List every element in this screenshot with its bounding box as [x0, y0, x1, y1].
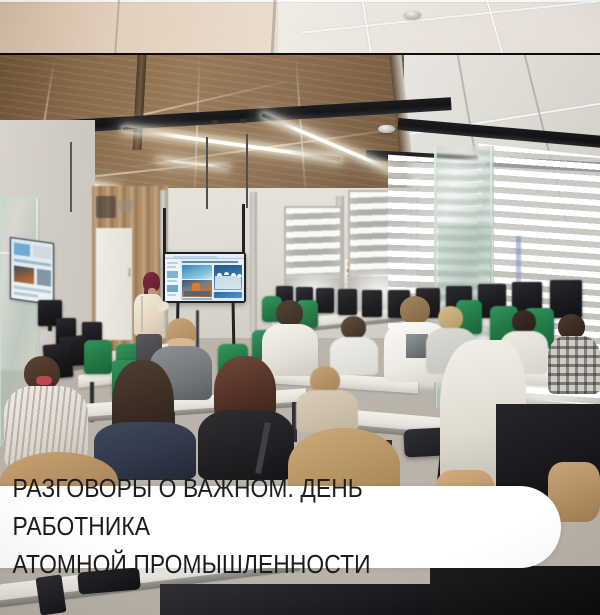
- student-head: [276, 300, 303, 326]
- ceiling-wood-top-band: [0, 0, 278, 56]
- student-torso: [296, 390, 358, 432]
- slide-photo-tile: [182, 280, 212, 297]
- monitor: [550, 280, 582, 318]
- student-torso-foreground: [160, 584, 430, 615]
- student: [548, 314, 600, 394]
- tv-stand: [242, 204, 245, 254]
- slide-photo-tile: [214, 292, 242, 298]
- hair-tie: [36, 376, 52, 385]
- smoke-detector-icon: [404, 11, 421, 19]
- student: [94, 360, 196, 480]
- monitor: [338, 289, 357, 315]
- monitor: [362, 290, 382, 317]
- hanging-cable: [206, 137, 208, 209]
- wall-vent: [118, 198, 134, 212]
- student-head: [438, 306, 463, 330]
- slide-photo-tile: [214, 265, 242, 290]
- glass-frame: [0, 196, 40, 199]
- student: [4, 356, 88, 468]
- tv-stand: [163, 208, 166, 254]
- tv-screen: [165, 254, 244, 301]
- beam-fixture: [240, 119, 246, 123]
- student-head: [341, 316, 366, 339]
- ceiling-grout: [0, 0, 600, 2]
- shirt-graphic: [406, 334, 428, 358]
- student-torso: [548, 336, 600, 394]
- smoke-detector-icon: [378, 125, 395, 133]
- hanging-cable: [70, 142, 72, 212]
- caption-banner: РАЗГОВОРЫ О ВАЖНОМ. ДЕНЬ РАБОТНИКА АТОМН…: [0, 486, 561, 568]
- tv-display: [163, 252, 246, 303]
- caption-text: РАЗГОВОРЫ О ВАЖНОМ. ДЕНЬ РАБОТНИКА АТОМН…: [0, 470, 502, 584]
- wall-pillar: [250, 192, 257, 332]
- student: [198, 356, 294, 480]
- monitor-stand: [48, 324, 52, 331]
- photo-canvas: РАЗГОВОРЫ О ВАЖНОМ. ДЕНЬ РАБОТНИКА АТОМН…: [0, 0, 600, 615]
- wall-display-left: [10, 237, 54, 305]
- slide-photo-tile: [182, 265, 212, 279]
- hanging-cable: [246, 134, 248, 208]
- student-head: [512, 310, 536, 333]
- monitor: [316, 288, 334, 313]
- wall-speaker: [96, 196, 116, 218]
- student: [296, 366, 358, 432]
- window-blind: [286, 208, 340, 278]
- beam-fixture: [212, 120, 218, 124]
